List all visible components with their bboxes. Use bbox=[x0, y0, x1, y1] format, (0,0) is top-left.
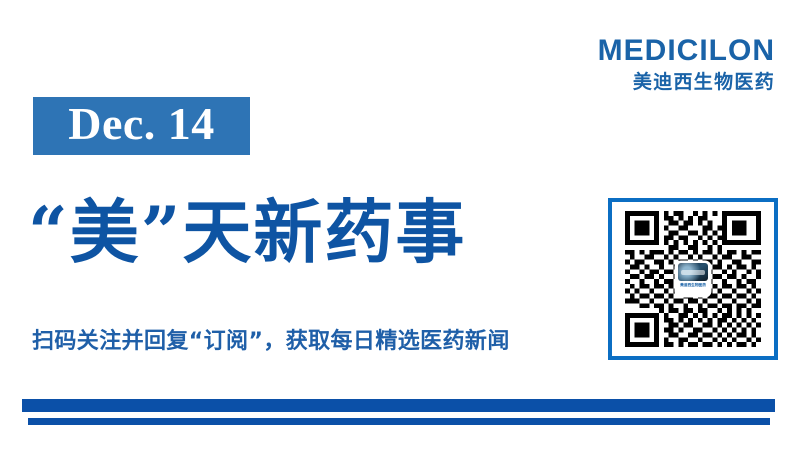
date-badge: Dec. 14 bbox=[33, 97, 250, 155]
qr-code-canvas: 美迪西生物医药 bbox=[622, 211, 764, 347]
brand-subtitle: 美迪西生物医药 bbox=[598, 73, 775, 92]
caption: 扫码关注并回复“订阅”，获取每日精选医药新闻 bbox=[32, 328, 582, 356]
qr-center-logo-image bbox=[678, 263, 708, 281]
poster-canvas: MEDICILON 美迪西生物医药 Dec. 14 “美”天新药事 扫码关注并回… bbox=[0, 0, 800, 468]
headline: “美”天新药事 bbox=[28, 186, 588, 278]
footer-rule-thick bbox=[22, 399, 775, 412]
qr-center-logo: 美迪西生物医药 bbox=[676, 262, 710, 296]
headline-text: “美”天新药事 bbox=[28, 198, 466, 267]
qr-center-logo-caption: 美迪西生物医药 bbox=[680, 281, 706, 287]
brand-wordmark: MEDICILON bbox=[598, 36, 775, 66]
brand-logo: MEDICILON 美迪西生物医药 bbox=[598, 36, 775, 92]
qr-code[interactable]: 美迪西生物医药 bbox=[608, 198, 778, 360]
date-badge-label: Dec. 14 bbox=[68, 101, 215, 147]
footer-rule-thin bbox=[28, 418, 770, 425]
caption-text: 扫码关注并回复“订阅”，获取每日精选医药新闻 bbox=[32, 329, 510, 354]
